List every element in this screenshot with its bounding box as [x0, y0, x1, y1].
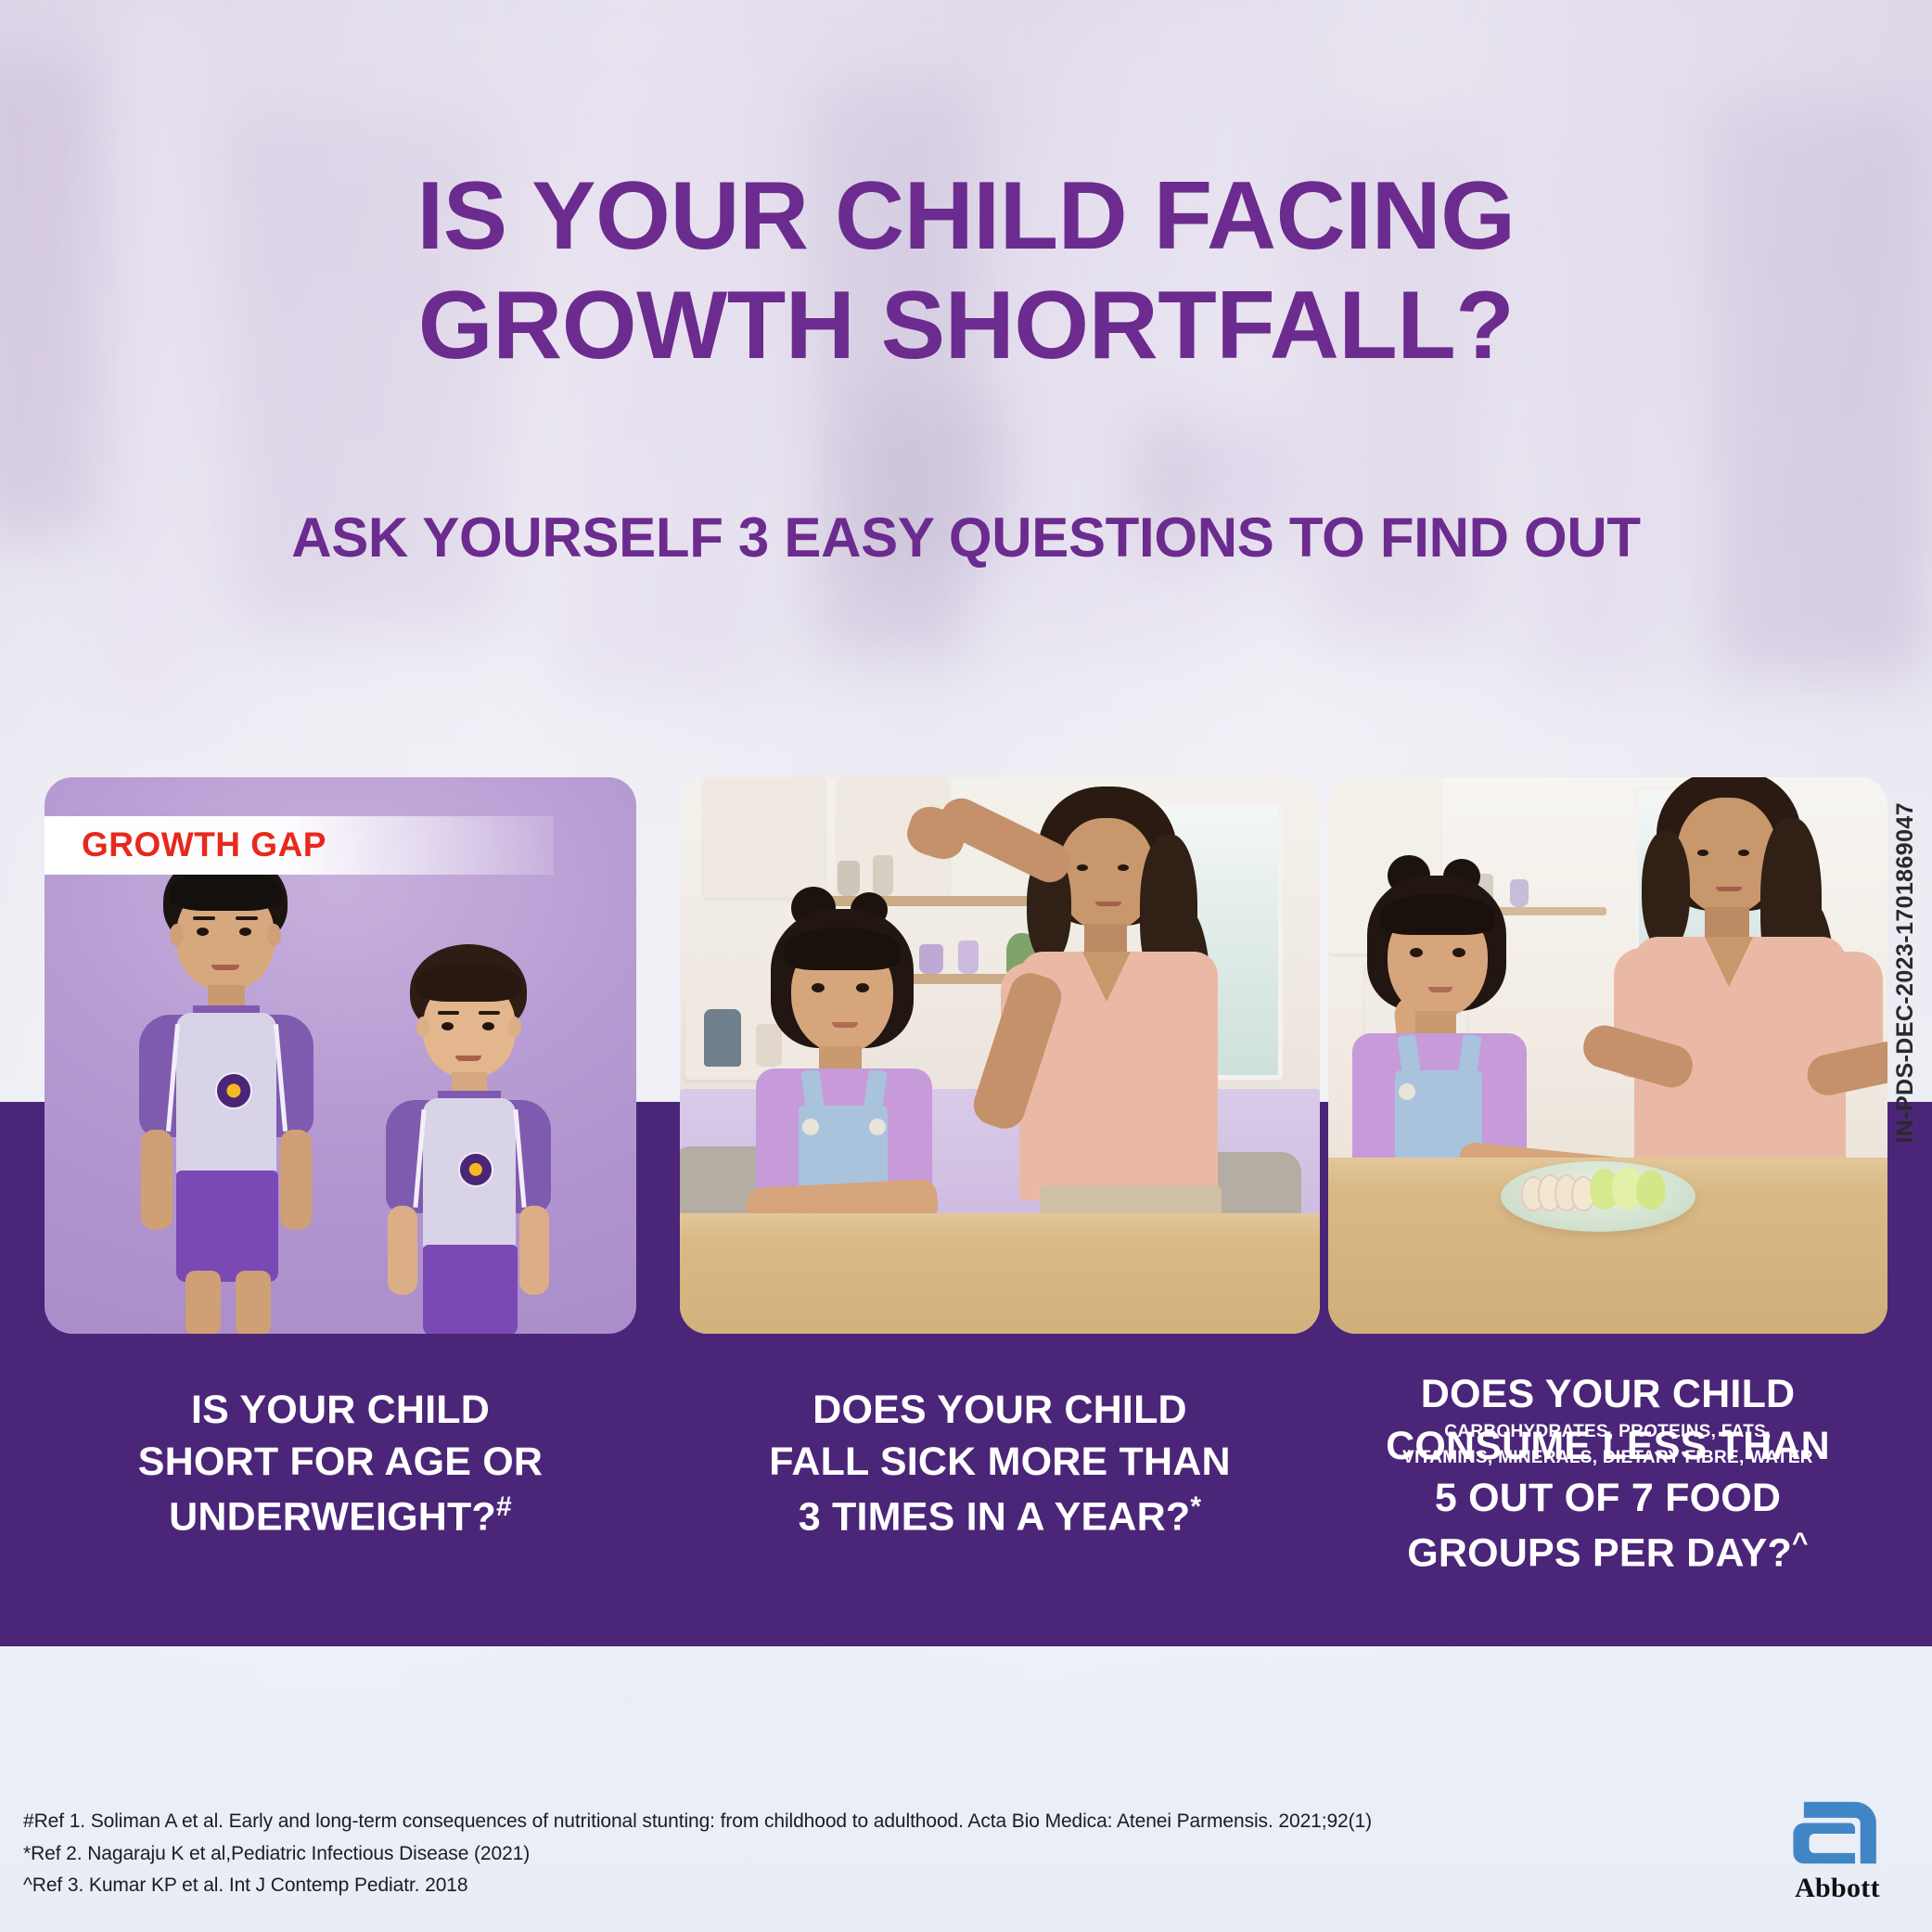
- growth-gap-label: GROWTH GAP: [82, 825, 326, 864]
- caption-1-line-3-text: UNDERWEIGHT?: [169, 1494, 496, 1539]
- food-groups-note-line-2: VITAMINS, MINERALS, DIETARY FIBRE, WATER: [1328, 1445, 1887, 1471]
- caption-1-line-1: IS YOUR CHILD: [45, 1385, 636, 1437]
- page-title: IS YOUR CHILD FACING GROWTH SHORTFALL?: [0, 162, 1932, 380]
- reference-3: ^Ref 3. Kumar KP et al. Int J Contemp Pe…: [23, 1870, 1372, 1902]
- reference-1: #Ref 1. Soliman A et al. Early and long-…: [23, 1806, 1372, 1838]
- caption-1-line-2: SHORT FOR AGE OR: [45, 1437, 636, 1489]
- caption-3-line-4: GROUPS PER DAY?^: [1328, 1525, 1887, 1580]
- headline-line-2: GROWTH SHORTFALL?: [0, 272, 1932, 381]
- caption-2-marker: *: [1190, 1491, 1201, 1522]
- caption-row: IS YOUR CHILD SHORT FOR AGE OR UNDERWEIG…: [0, 1102, 1932, 1646]
- abbott-wordmark: Abbott: [1776, 1873, 1899, 1904]
- caption-1-line-3: UNDERWEIGHT?#: [45, 1489, 636, 1543]
- abbott-a-icon: [1793, 1797, 1882, 1869]
- caption-question-3: DOES YOUR CHILD CONSUME LESS THAN 5 OUT …: [1328, 1369, 1887, 1580]
- caption-1-marker: #: [496, 1491, 512, 1522]
- abbott-logo: Abbott: [1776, 1797, 1899, 1904]
- food-groups-note: CARBOHYDRATES, PROTEINS, FATS, VITAMINS,…: [1328, 1419, 1887, 1470]
- reference-2: *Ref 2. Nagaraju K et al,Pediatric Infec…: [23, 1838, 1372, 1871]
- caption-2-line-3: 3 TIMES IN A YEAR?*: [680, 1489, 1320, 1543]
- caption-2-line-1: DOES YOUR CHILD: [680, 1385, 1320, 1437]
- caption-3-marker: ^: [1792, 1528, 1809, 1558]
- caption-question-2: DOES YOUR CHILD FALL SICK MORE THAN 3 TI…: [680, 1385, 1320, 1543]
- references-block: #Ref 1. Soliman A et al. Early and long-…: [23, 1806, 1372, 1902]
- food-groups-note-line-1: CARBOHYDRATES, PROTEINS, FATS,: [1328, 1419, 1887, 1445]
- caption-question-1: IS YOUR CHILD SHORT FOR AGE OR UNDERWEIG…: [45, 1385, 636, 1543]
- caption-3-line-1: DOES YOUR CHILD: [1328, 1369, 1887, 1421]
- headline-line-1: IS YOUR CHILD FACING: [416, 162, 1515, 270]
- caption-2-line-3-text: 3 TIMES IN A YEAR?: [799, 1494, 1191, 1539]
- approval-code: IN-PDS-DEC-2023-1701869047: [1892, 802, 1919, 1144]
- caption-3-line-4-text: GROUPS PER DAY?: [1407, 1530, 1792, 1575]
- caption-2-line-2: FALL SICK MORE THAN: [680, 1437, 1320, 1489]
- caption-3-line-3: 5 OUT OF 7 FOOD: [1328, 1473, 1887, 1525]
- poster-canvas: IS YOUR CHILD FACING GROWTH SHORTFALL? A…: [0, 0, 1932, 1932]
- page-subtitle: ASK YOURSELF 3 EASY QUESTIONS TO FIND OU…: [0, 505, 1932, 569]
